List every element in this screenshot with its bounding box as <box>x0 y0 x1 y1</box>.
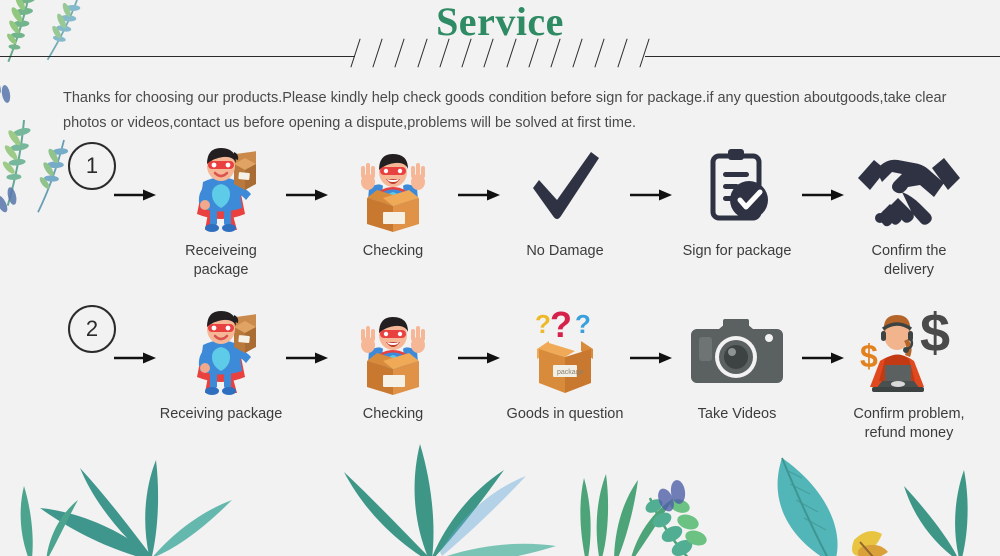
flow-step: ? ? ? package Goods in question <box>502 303 628 424</box>
slash-mark <box>639 39 649 68</box>
flow-badge-1: 1 <box>68 142 116 190</box>
slash-mark <box>439 39 449 68</box>
flow-step-label: Receiveing package <box>158 242 284 280</box>
arrow-icon <box>112 140 158 250</box>
svg-text:?: ? <box>550 305 572 345</box>
flow-steps-2: Receiving package <box>112 303 972 443</box>
arrow-icon <box>800 303 846 413</box>
svg-text:package: package <box>557 369 584 376</box>
flow-step-label: Sign for package <box>683 242 792 261</box>
flow-step-label: Receiving package <box>160 405 283 424</box>
flow-step: Sign for package <box>674 140 800 261</box>
slash-mark <box>506 39 516 68</box>
superhero-holding-package-icon <box>179 303 263 399</box>
svg-text:$: $ <box>920 305 950 363</box>
flow-step-label: Checking <box>363 405 423 424</box>
arrow-icon <box>284 303 330 413</box>
slash-mark <box>484 39 494 68</box>
flow-step: No Damage <box>502 140 628 261</box>
arrow-icon <box>628 140 674 250</box>
arrow-icon <box>284 140 330 250</box>
flow-step-label: Confirm the delivery <box>846 242 972 280</box>
checkmark-icon <box>523 140 607 236</box>
flow-step-label: Checking <box>363 242 423 261</box>
flow-step: Checking <box>330 140 456 261</box>
svg-text:?: ? <box>535 309 551 339</box>
flow-step-label: Confirm problem, refund money <box>853 405 964 443</box>
arrow-icon <box>800 140 846 250</box>
person-in-open-box-icon <box>351 140 435 236</box>
slash-mark <box>417 39 427 68</box>
slash-mark <box>461 39 471 68</box>
service-info-banner: Service Thanks for choosing our products… <box>0 0 1000 556</box>
person-in-open-box-icon <box>351 303 435 399</box>
arrow-icon <box>112 303 158 413</box>
arrow-icon <box>456 140 502 250</box>
arrow-icon <box>456 303 502 413</box>
slash-mark <box>395 39 405 68</box>
arrow-icon <box>628 303 674 413</box>
flow-step: Receiveing package <box>158 140 284 280</box>
slash-mark <box>528 39 538 68</box>
flow-step: Checking <box>330 303 456 424</box>
slash-mark <box>550 39 560 68</box>
flow-step-label: Goods in question <box>507 405 624 424</box>
flow-step: Receiving package <box>158 303 284 424</box>
camera-icon <box>689 303 785 399</box>
slash-mark <box>373 39 383 68</box>
slash-mark <box>573 39 583 68</box>
svg-text:$: $ <box>860 338 878 374</box>
watercolor-tropical-leaves-decoration <box>0 430 1000 556</box>
support-agent-dollar-icon: $ $ <box>854 303 964 399</box>
clipboard-check-icon <box>695 140 779 236</box>
flow-step: Take Videos <box>674 303 800 424</box>
flow-steps-1: Receiveing package <box>112 140 972 280</box>
box-with-question-marks-icon: ? ? ? package <box>517 303 613 399</box>
flow-step-label: Take Videos <box>698 405 777 424</box>
slash-mark <box>617 39 627 68</box>
flow-step-label: No Damage <box>526 242 603 261</box>
superhero-holding-package-icon <box>179 140 263 236</box>
svg-text:?: ? <box>575 309 591 339</box>
flow-step: Confirm the delivery <box>846 140 972 280</box>
slash-divider-ornament <box>355 36 645 70</box>
flow-step: $ $ <box>846 303 972 443</box>
slash-mark <box>595 39 605 68</box>
intro-paragraph: Thanks for choosing our products.Please … <box>63 86 953 136</box>
flow-badge-2: 2 <box>68 305 116 353</box>
handshake-icon <box>854 140 964 236</box>
